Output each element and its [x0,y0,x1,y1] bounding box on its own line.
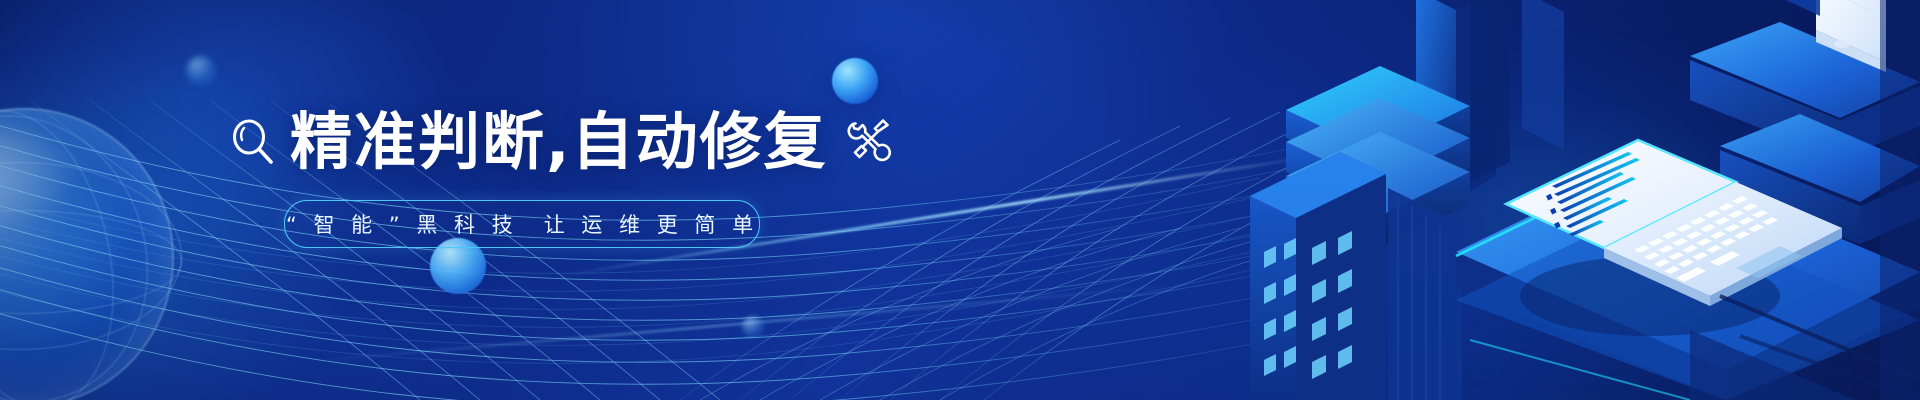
headline-row: 精准判断,自动修复 [230,104,1050,180]
hero-banner: 精准判断,自动修复 “ 智 能 ” 黑 科 技 让 运 维 更 简 单 [0,0,1920,400]
right-edge-band [1880,0,1920,400]
isometric-illustration [1220,0,1920,400]
headline-block: 精准判断,自动修复 “ 智 能 ” 黑 科 技 让 运 维 更 简 单 [230,104,1050,248]
page-title: 精准判断,自动修复 [290,111,828,173]
subtitle-pill: “ 智 能 ” 黑 科 技 让 运 维 更 简 单 [284,200,760,248]
glow-orb-small [742,316,764,338]
glow-orb-soft [186,56,216,86]
phone-home-button [1834,40,1850,48]
magnifier-icon [230,117,276,167]
subtitle-text: “ 智 能 ” 黑 科 技 让 运 维 更 简 单 [286,209,758,239]
wrench-screwdriver-icon [842,114,898,170]
glow-orb-large [832,58,878,104]
